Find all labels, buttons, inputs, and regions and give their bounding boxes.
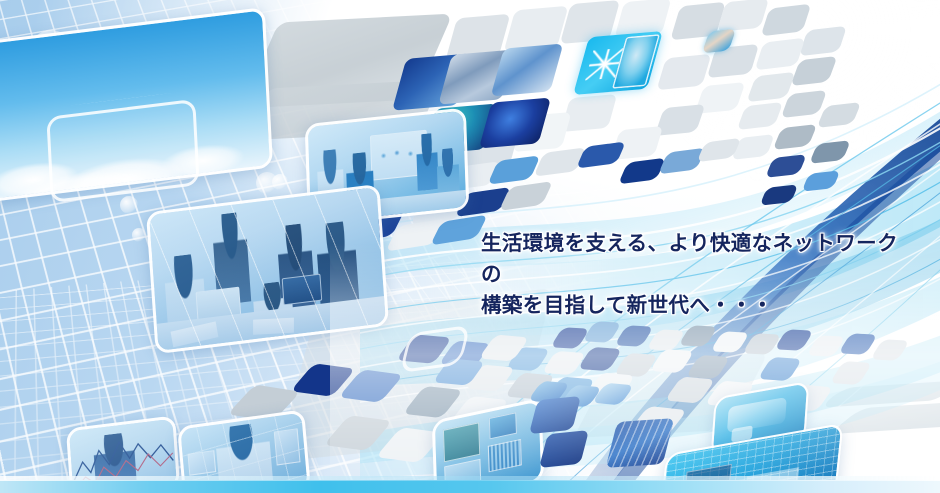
bokeh-circle (132, 228, 146, 242)
meeting-panel (146, 184, 389, 354)
outline-panel (46, 99, 199, 203)
footer-accent-band (0, 480, 940, 493)
bokeh-circle (272, 174, 288, 190)
grid-overlay (149, 187, 386, 351)
bokeh-circle (120, 196, 138, 214)
page-title: 生活環境を支える、より快適なネットワークの 構築を目指して新世代へ・・・ (481, 228, 901, 321)
hero-banner: 生活環境を支える、より快適なネットワークの 構築を目指して新世代へ・・・ (0, 0, 940, 493)
